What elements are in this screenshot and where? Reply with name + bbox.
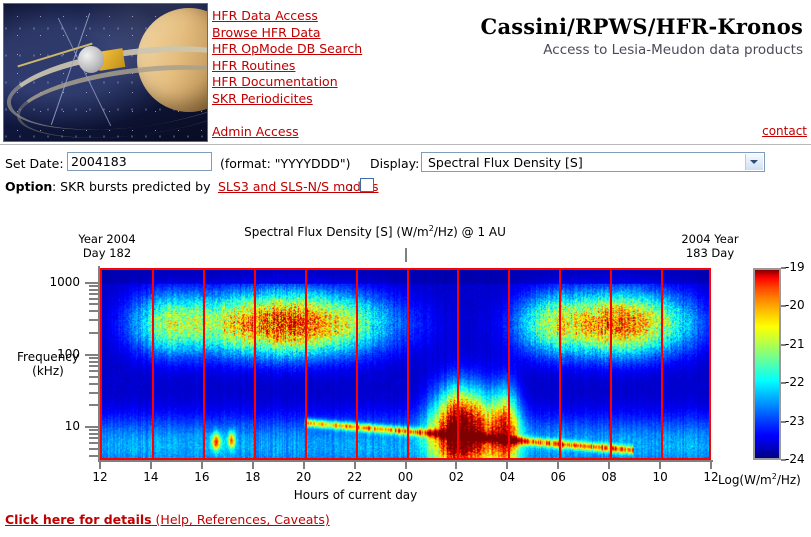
x-tick-22 xyxy=(354,462,356,469)
x-tick-label-10: 10 xyxy=(640,470,680,484)
y-tick-80 xyxy=(89,361,99,363)
nav-link-hfr-documentation[interactable]: HFR Documentation xyxy=(212,74,362,91)
y-tick-5 xyxy=(89,448,99,450)
gridline-hour-32 xyxy=(610,270,612,458)
y-tick-90 xyxy=(89,357,99,359)
page-subtitle: Access to Lesia-Meudon data products xyxy=(283,42,803,58)
y-tick-label-1000: 1000 xyxy=(20,275,80,289)
y-tick-700 xyxy=(89,293,99,295)
y-axis-title-line1: Frequency xyxy=(8,350,88,364)
x-tick-02 xyxy=(455,462,457,469)
x-tick-18 xyxy=(252,462,254,469)
gridline-hour-16 xyxy=(203,270,205,458)
y-tick-8 xyxy=(89,433,99,435)
y-tick-200 xyxy=(89,332,99,334)
date-format-hint: (format: "YYYYDDD") xyxy=(220,156,351,171)
x-tick-12 xyxy=(710,462,712,469)
footer-details-link[interactable]: Click here for details (Help, References… xyxy=(5,512,330,527)
y-tick-4 xyxy=(89,455,99,457)
colorbar-tick-label--22: -22 xyxy=(785,375,811,389)
x-tick-label-02: 02 xyxy=(436,470,476,484)
display-select-value: Spectral Flux Density [S] xyxy=(428,155,583,170)
x-tick-04 xyxy=(506,462,508,469)
set-date-label: Set Date: xyxy=(5,156,64,171)
x-tick-label-20: 20 xyxy=(284,470,324,484)
sls-models-link[interactable]: SLS3 and SLS-N/S models xyxy=(218,179,379,194)
option-description: : SKR bursts predicted by xyxy=(52,179,210,194)
colorbar-tick-label--23: -23 xyxy=(785,414,811,428)
x-tick-label-06: 06 xyxy=(538,470,578,484)
colorbar-title: Log(W/m2/Hz) xyxy=(718,472,801,487)
gridline-hour-26 xyxy=(457,270,459,458)
y-tick-40 xyxy=(89,383,99,385)
x-tick-label-14: 14 xyxy=(131,470,171,484)
nav-link-contact[interactable]: contact xyxy=(762,124,807,138)
gridline-hour-30 xyxy=(559,270,561,458)
figure-title-main: Spectral Flux Density [S] (W/m xyxy=(244,225,429,239)
nav-link-admin-access[interactable]: Admin Access xyxy=(212,124,299,139)
y-tick-500 xyxy=(89,303,99,305)
display-select[interactable]: Spectral Flux Density [S] xyxy=(421,152,765,172)
colorbar-tick-label--20: -20 xyxy=(785,298,811,312)
controls-row: Set Date: (format: "YYYYDDD") Display: S… xyxy=(0,152,811,176)
cassini-spacecraft xyxy=(78,44,130,78)
y-tick-400 xyxy=(89,310,99,312)
footer-bold-text[interactable]: Click here for details xyxy=(5,512,152,527)
gridline-hour-28 xyxy=(508,270,510,458)
x-tick-label-04: 04 xyxy=(487,470,527,484)
colorbar-title-main: Log(W/m xyxy=(718,473,772,487)
colorbar-tick-label--24: -24 xyxy=(785,452,811,466)
gridline-hour-14 xyxy=(152,270,154,458)
x-tick-label-22: 22 xyxy=(335,470,375,484)
figure-title-tail: /Hz) @ 1 AU xyxy=(434,225,506,239)
y-tick-1000 xyxy=(85,282,99,284)
x-axis-title: Hours of current day xyxy=(0,488,711,502)
y-tick-7 xyxy=(89,437,99,439)
x-tick-10 xyxy=(659,462,661,469)
date-label-right: 2004 Year 183 Day xyxy=(655,232,765,260)
y-tick-6 xyxy=(89,442,99,444)
y-tick-900 xyxy=(89,285,99,287)
y-tick-9 xyxy=(89,429,99,431)
display-label: Display: xyxy=(370,156,419,171)
set-date-input[interactable] xyxy=(67,152,212,171)
x-tick-12 xyxy=(99,462,101,469)
spacecraft-dish xyxy=(78,46,104,73)
cassini-saturn-banner-image xyxy=(3,3,208,142)
option-row: Option : SKR bursts predicted by SLS3 an… xyxy=(0,176,811,198)
y-tick-600 xyxy=(89,298,99,300)
gridline-hour-22 xyxy=(356,270,358,458)
y-tick-60 xyxy=(89,370,99,372)
nav-link-hfr-routines[interactable]: HFR Routines xyxy=(212,58,362,75)
x-tick-label-08: 08 xyxy=(589,470,629,484)
colorbar-tick-label--19: -19 xyxy=(785,260,811,274)
x-tick-16 xyxy=(201,462,203,469)
x-tick-08 xyxy=(608,462,610,469)
y-tick-30 xyxy=(89,392,99,394)
gridline-hour-34 xyxy=(661,270,663,458)
y-tick-800 xyxy=(89,289,99,291)
gridline-hour-18 xyxy=(254,270,256,458)
date-right-day: 183 Day xyxy=(655,246,765,260)
x-tick-label-12: 12 xyxy=(80,470,120,484)
page-header: HFR Data Access Browse HFR Data HFR OpMo… xyxy=(0,0,811,145)
gridline-hour-20 xyxy=(305,270,307,458)
x-tick-label-00: 00 xyxy=(386,470,426,484)
spectrogram-figure: Spectral Flux Density [S] (W/m2/Hz) @ 1 … xyxy=(0,210,811,510)
x-tick-20 xyxy=(303,462,305,469)
date-right-year: 2004 Year xyxy=(655,232,765,246)
skr-bursts-checkbox[interactable] xyxy=(360,178,374,192)
x-tick-label-16: 16 xyxy=(182,470,222,484)
nav-link-skr-periodicites[interactable]: SKR Periodicites xyxy=(212,91,362,108)
y-tick-70 xyxy=(89,365,99,367)
midnight-boundary-tick xyxy=(405,248,407,262)
gridline-hour-24 xyxy=(407,270,409,458)
colorbar-title-tail: /Hz) xyxy=(777,473,801,487)
option-label: Option xyxy=(5,179,52,194)
page-title: Cassini/RPWS/HFR-Kronos xyxy=(283,14,803,39)
y-axis-title-line2: (kHz) xyxy=(8,364,88,378)
colorbar-tick-label--21: -21 xyxy=(785,337,811,351)
option-colon: : xyxy=(349,179,353,194)
footer-normal-text[interactable]: (Help, References, Caveats) xyxy=(152,512,330,527)
x-tick-label-18: 18 xyxy=(233,470,273,484)
y-tick-20 xyxy=(89,404,99,406)
y-tick-label-10: 10 xyxy=(20,419,80,433)
x-tick-14 xyxy=(150,462,152,469)
colorbar xyxy=(753,268,781,460)
date-label-left: Year 2004 Day 182 xyxy=(52,232,162,260)
y-axis-title: Frequency (kHz) xyxy=(8,350,88,378)
y-tick-10 xyxy=(85,426,99,428)
x-tick-06 xyxy=(557,462,559,469)
date-left-day: Day 182 xyxy=(52,246,162,260)
y-tick-50 xyxy=(89,376,99,378)
spectrogram-heatmap xyxy=(102,270,709,458)
chevron-down-icon[interactable] xyxy=(745,154,763,170)
spectrogram-plot[interactable] xyxy=(100,268,711,460)
y-tick-300 xyxy=(89,319,99,321)
x-tick-00 xyxy=(405,462,407,469)
date-left-year: Year 2004 xyxy=(52,232,162,246)
